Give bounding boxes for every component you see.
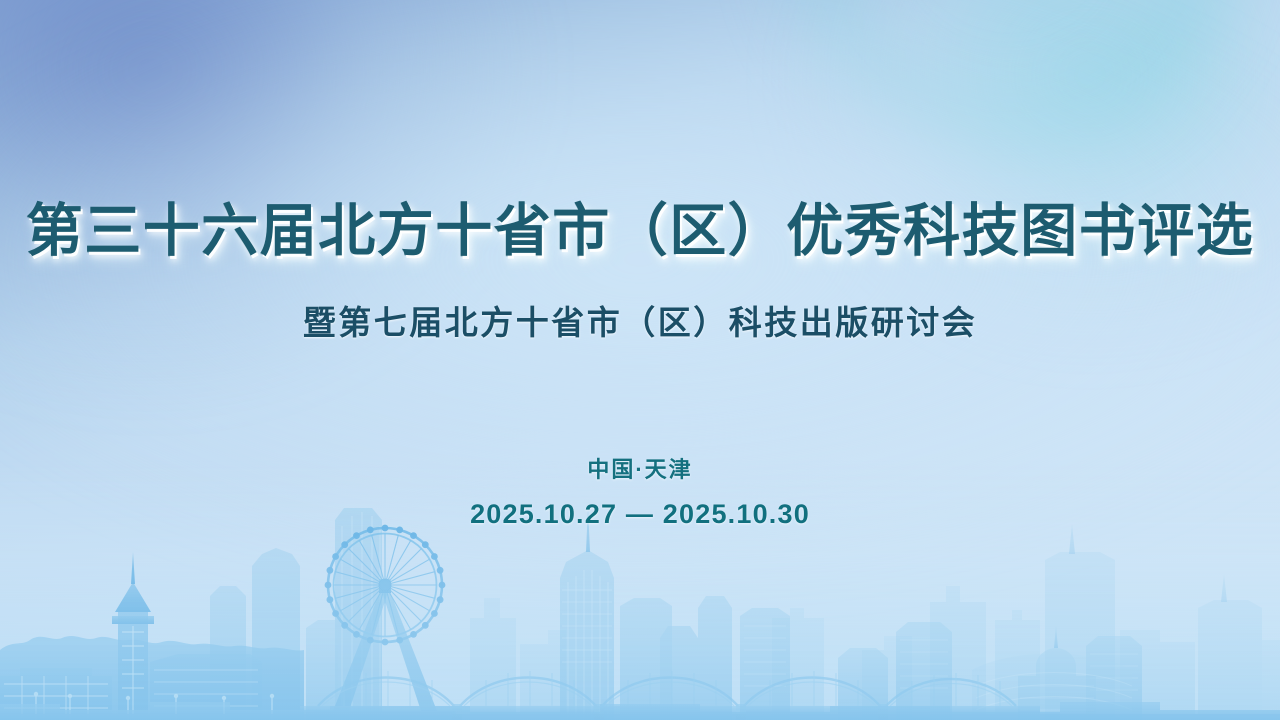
conference-poster: 第三十六届北方十省市（区）优秀科技图书评选 暨第七届北方十省市（区）科技出版研讨… bbox=[0, 0, 1280, 720]
venue-label: 中国·天津 bbox=[0, 452, 1280, 484]
page-title: 第三十六届北方十省市（区）优秀科技图书评选 bbox=[0, 198, 1280, 264]
poster-text-content: 第三十六届北方十省市（区）优秀科技图书评选 暨第七届北方十省市（区）科技出版研讨… bbox=[0, 0, 1280, 720]
date-range-label: 2025.10.27 — 2025.10.30 bbox=[0, 499, 1280, 530]
page-subtitle: 暨第七届北方十省市（区）科技出版研讨会 bbox=[0, 303, 1280, 346]
